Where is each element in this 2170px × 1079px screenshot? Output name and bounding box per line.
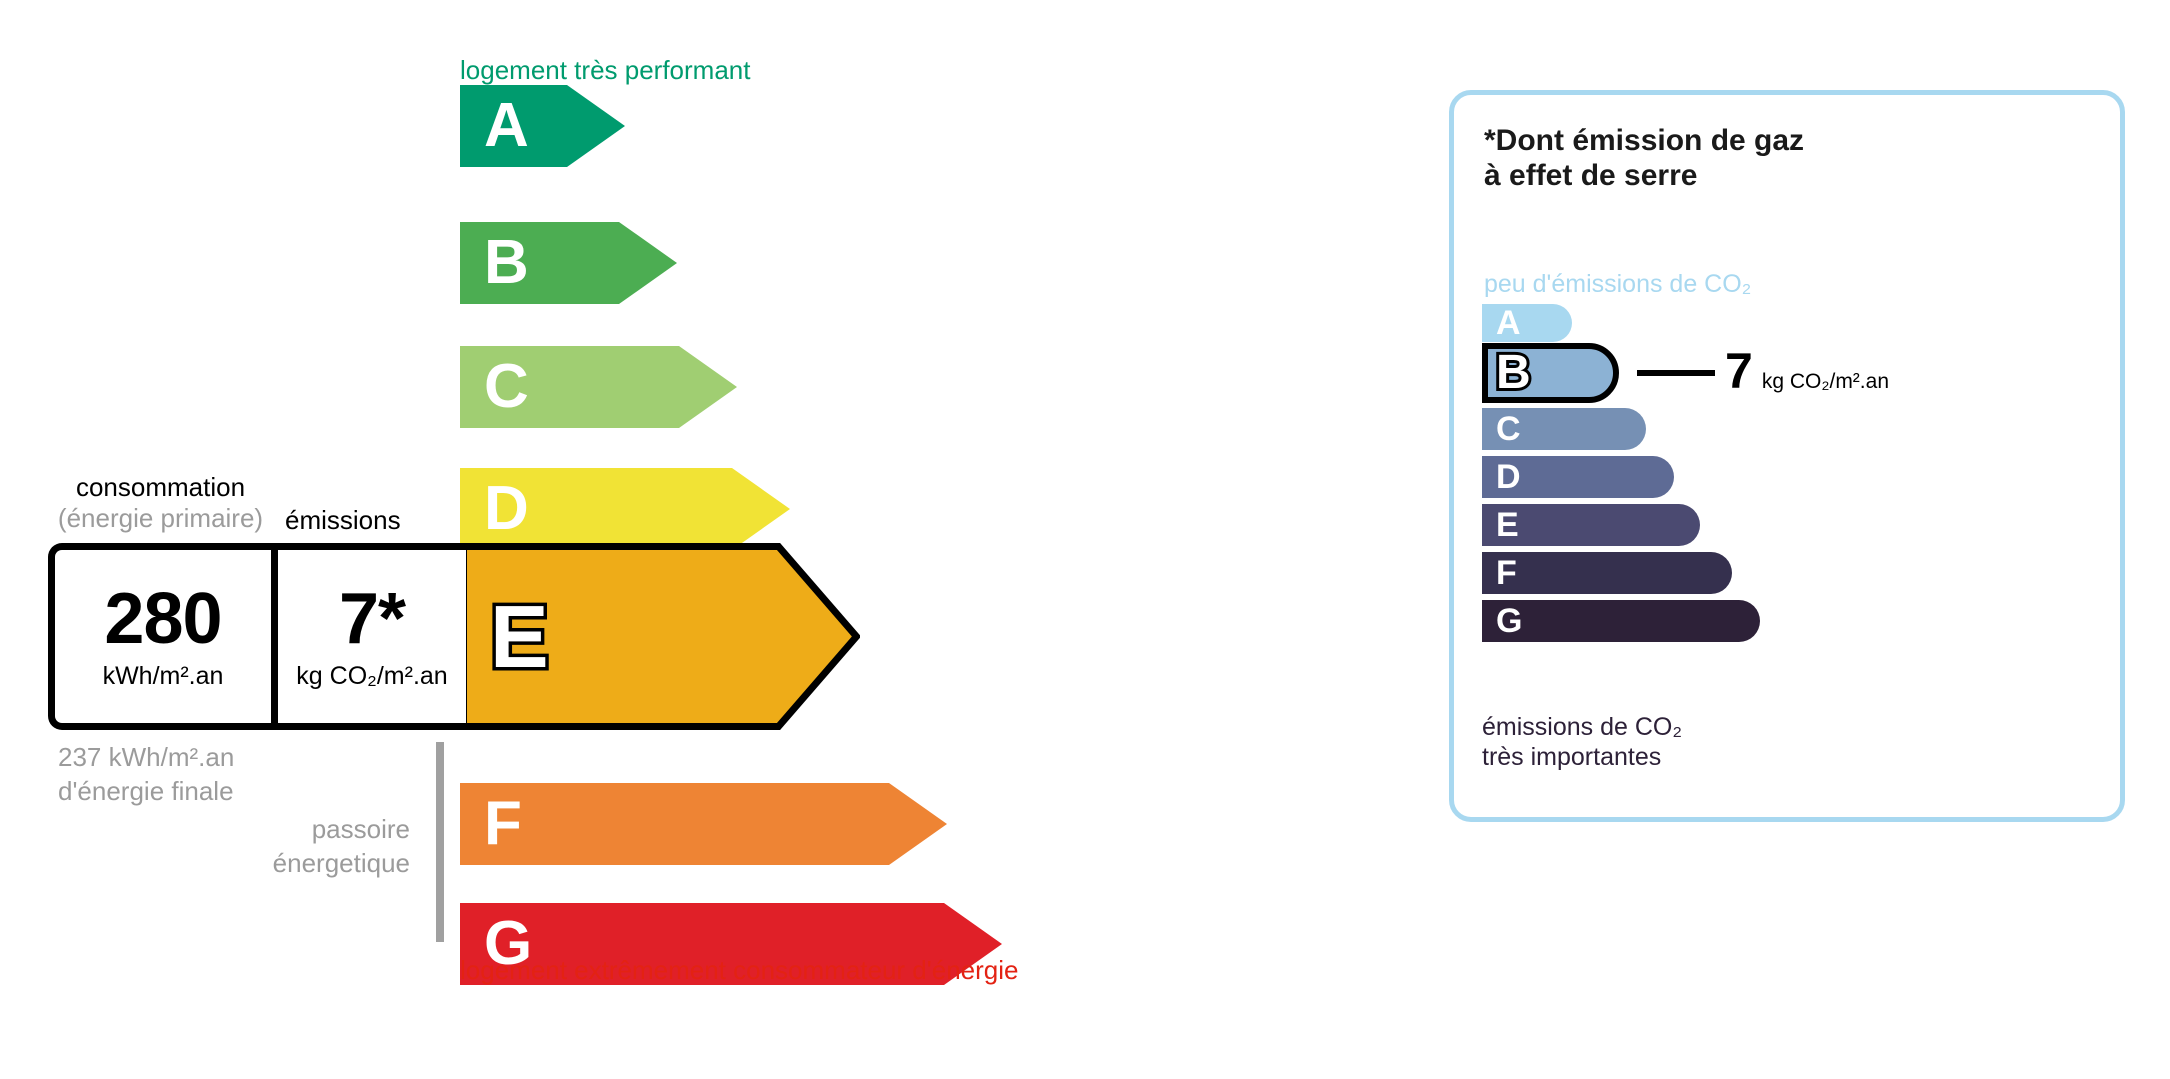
passoire-divider-rule — [436, 742, 444, 942]
energy-bar-b: B — [460, 222, 677, 304]
energy-performance-label: logement très performant ABCDEFG logemen… — [0, 0, 1380, 1079]
co2-bar-letter-f: F — [1496, 556, 1517, 590]
energy-bar-e: E — [460, 543, 860, 730]
energy-bar-letter-f: F — [484, 793, 522, 855]
co2-bar-d: D — [1482, 456, 1674, 498]
co2-bottom-caption: émissions de CO₂ très importantes — [1482, 712, 1682, 772]
co2-bar-letter-g: G — [1496, 604, 1522, 638]
energy-bottom-caption: logement extrêmement consommateur d'éner… — [460, 955, 1018, 986]
emissions-label: émissions — [285, 505, 401, 536]
consumption-value: 280 — [104, 583, 221, 655]
co2-top-caption: peu d'émissions de CO₂ — [1484, 270, 1751, 299]
co2-bar-letter-c: C — [1496, 412, 1521, 446]
energy-bar-c: C — [460, 346, 737, 428]
value-box: 280 kWh/m².an 7* kg CO₂/m².an — [48, 543, 466, 730]
co2-bar-letter-b: B — [1496, 349, 1531, 397]
energy-bar-letter-d: D — [484, 478, 529, 540]
energy-bar-a: A — [460, 85, 625, 167]
energy-bar-letter-e: E — [490, 593, 549, 681]
final-energy-note: 237 kWh/m².an d'énergie finale — [58, 740, 234, 809]
co2-bar-letter-d: D — [1496, 460, 1521, 494]
co2-value: 7 — [1725, 346, 1753, 396]
energy-bar-shape-f — [460, 783, 947, 865]
co2-bar-c: C — [1482, 408, 1646, 450]
emission-value-unit: kg CO₂/m².an — [296, 662, 447, 691]
energy-bar-letter-a: A — [484, 95, 529, 157]
co2-bar-b: B — [1482, 343, 1619, 403]
emission-value-cell: 7* kg CO₂/m².an — [271, 550, 466, 723]
consumption-label-main: consommation — [76, 472, 245, 502]
co2-bar-f: F — [1482, 552, 1732, 594]
energy-bar-f: F — [460, 783, 947, 865]
co2-bar-a: A — [1482, 304, 1572, 342]
consumption-label-sub: (énergie primaire) — [48, 503, 273, 534]
co2-bar-g: G — [1482, 600, 1760, 642]
co2-panel-title: *Dont émission de gaz à effet de serre — [1484, 123, 1804, 194]
energy-bar-d: D — [460, 468, 790, 550]
energy-bar-letter-b: B — [484, 232, 529, 294]
co2-bar-shape-f — [1482, 552, 1732, 594]
emission-value: 7* — [339, 583, 405, 655]
co2-emissions-panel: *Dont émission de gaz à effet de serre p… — [1449, 90, 2125, 822]
consumption-label: consommation (énergie primaire) — [48, 472, 273, 534]
co2-value-callout: 7 kg CO₂/m².an — [1725, 346, 1889, 396]
energy-bar-letter-c: C — [484, 356, 529, 418]
consumption-value-unit: kWh/m².an — [103, 662, 224, 691]
energy-top-caption: logement très performant — [460, 55, 750, 86]
consumption-value-cell: 280 kWh/m².an — [55, 550, 271, 723]
co2-bar-e: E — [1482, 504, 1700, 546]
co2-leader-line — [1637, 370, 1715, 376]
co2-bar-shape-g — [1482, 600, 1760, 642]
co2-bar-letter-a: A — [1496, 306, 1521, 340]
co2-bar-letter-e: E — [1496, 508, 1519, 542]
passoire-energetique-note: passoire énergetique — [150, 812, 410, 881]
co2-value-unit: kg CO₂/m².an — [1762, 370, 1889, 394]
